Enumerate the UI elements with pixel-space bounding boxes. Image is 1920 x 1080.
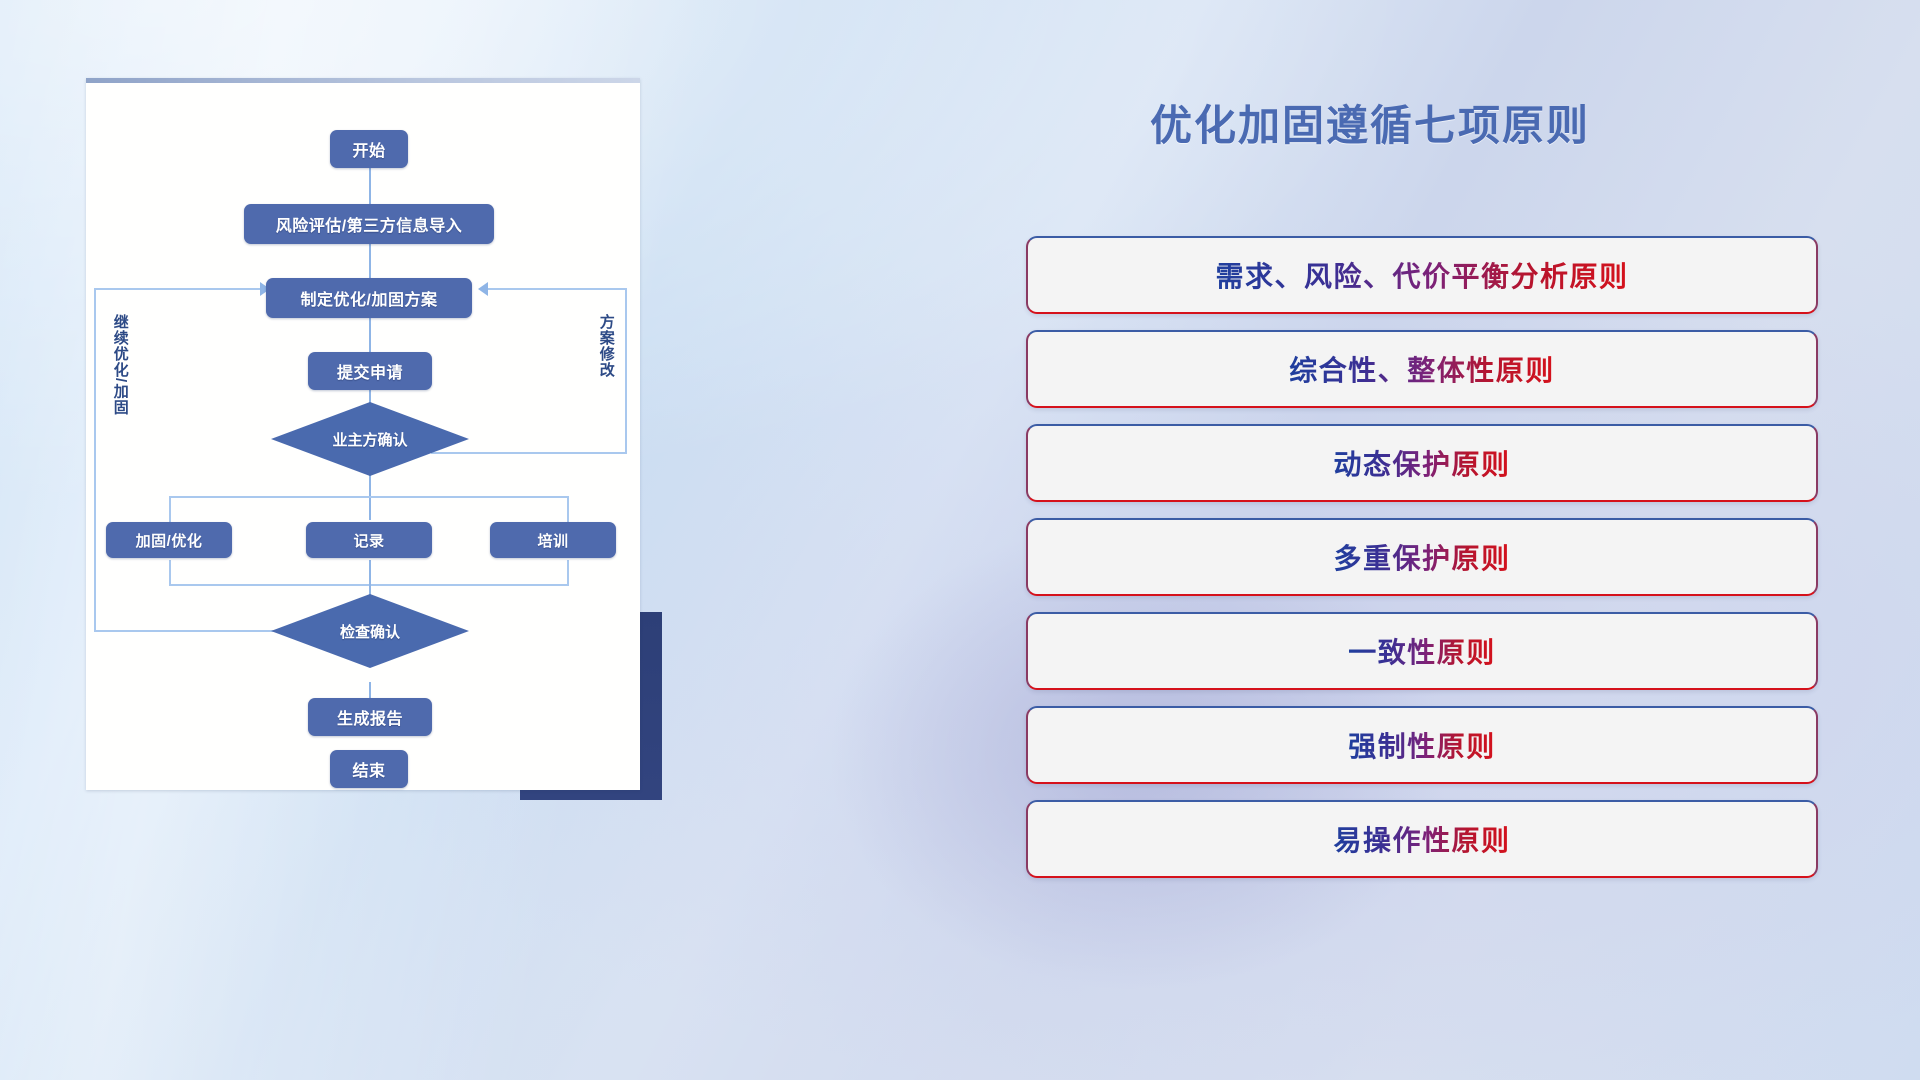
card-top-bar [86,78,640,83]
principle-card-7[interactable]: 易操作性原则 [1026,800,1818,878]
connector-fanout-bus [169,496,569,498]
principle-card-6[interactable]: 强制性原则 [1026,706,1818,784]
flow-node-owner-confirm[interactable]: 业主方确认 [271,402,469,476]
flow-node-start-label: 开始 [352,137,385,161]
principle-label-4: 多重保护原则 [1333,537,1510,577]
principle-card-1[interactable]: 需求、风险、代价平衡分析原则 [1026,236,1818,314]
principle-label-3: 动态保护原则 [1333,443,1510,483]
flow-node-start[interactable]: 开始 [330,130,408,168]
flow-node-record-label: 记录 [353,530,384,551]
principles-title: 优化加固遵循七项原则 [1150,92,1590,153]
principle-card-2[interactable]: 综合性、整体性原则 [1026,330,1818,408]
flow-node-report[interactable]: 生成报告 [308,698,432,736]
flow-node-training[interactable]: 培训 [490,522,616,558]
flow-node-reinforce-label: 加固/优化 [136,530,203,551]
flow-node-end-label: 结束 [352,757,385,781]
loop-left-top [94,288,262,290]
flow-node-record[interactable]: 记录 [306,522,432,558]
flow-node-submit-label: 提交申请 [337,359,403,383]
flow-node-submit[interactable]: 提交申请 [308,352,432,390]
principle-card-4[interactable]: 多重保护原则 [1026,518,1818,596]
principle-card-5[interactable]: 一致性原则 [1026,612,1818,690]
connector-reinf-down [169,560,171,586]
edge-label-continue-optimize: 继续优化/加固 [112,314,128,444]
principle-label-1: 需求、风险、代价平衡分析原则 [1215,255,1628,295]
flow-node-check-confirm[interactable]: 检查确认 [271,594,469,668]
connector-risk-plan [369,242,371,282]
edge-label-plan-revision: 方案修改 [598,314,614,418]
flow-node-check-confirm-label: 检查确认 [271,594,469,668]
flow-node-owner-confirm-label: 业主方确认 [271,402,469,476]
principle-label-6: 强制性原则 [1348,725,1496,765]
connector-plan-submit [369,316,371,356]
principle-label-5: 一致性原则 [1348,631,1496,671]
flowchart-card: 开始 风险评估/第三方信息导入 制定优化/加固方案 提交申请 业主方确认 加固/… [86,78,640,790]
loop-left-vertical [94,288,96,632]
loop-right-top [486,288,626,290]
arrowhead-loop-right [478,282,488,296]
principle-label-2: 综合性、整体性原则 [1289,349,1555,389]
principle-label-7: 易操作性原则 [1333,819,1510,859]
flow-node-training-label: 培训 [537,530,568,551]
flow-node-plan-label: 制定优化/加固方案 [301,286,438,310]
principle-card-3[interactable]: 动态保护原则 [1026,424,1818,502]
flow-node-plan[interactable]: 制定优化/加固方案 [266,278,472,318]
principles-list: 需求、风险、代价平衡分析原则 综合性、整体性原则 动态保护原则 多重保护原则 一… [1026,236,1818,894]
flow-node-end[interactable]: 结束 [330,750,408,788]
connector-train-down [567,560,569,586]
flow-node-report-label: 生成报告 [337,705,403,729]
flow-node-risk-assessment[interactable]: 风险评估/第三方信息导入 [244,204,494,244]
flow-node-reinforce[interactable]: 加固/优化 [106,522,232,558]
loop-right-vertical [625,288,627,454]
flow-node-risk-assessment-label: 风险评估/第三方信息导入 [276,212,462,236]
